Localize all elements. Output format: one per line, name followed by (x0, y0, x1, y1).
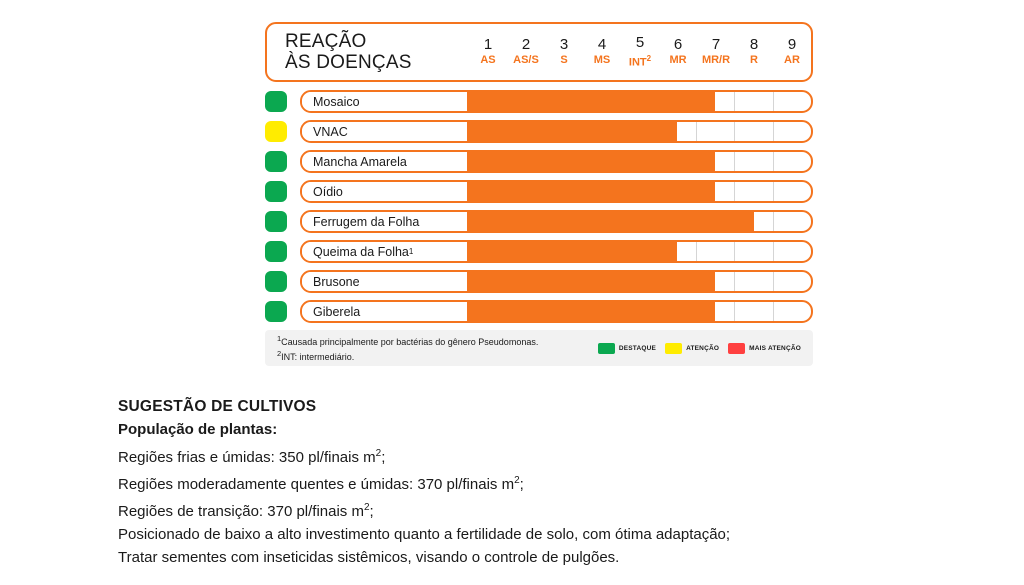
scale-column-abbr: S (560, 53, 567, 68)
scale-column-8: 8R (735, 24, 773, 80)
disease-row: Ferrugem da Folha (265, 210, 813, 233)
cultivation-line: Posicionado de baixo a alto investimento… (118, 523, 938, 546)
legend-label: MAIS ATENÇÃO (749, 345, 801, 352)
legend-swatch (665, 343, 682, 354)
status-badge (265, 271, 287, 292)
disease-name-text: Brusone (313, 275, 360, 289)
scale-column-abbr: MR (669, 53, 686, 68)
scale-column-5: 5INT2 (621, 24, 659, 80)
gridline-cell (734, 152, 772, 171)
cultivation-line-tail: ; (370, 503, 374, 520)
legend-swatch (598, 343, 615, 354)
gridline-cell (734, 302, 772, 321)
disease-bar-fill (467, 242, 677, 261)
gridline-cell (773, 212, 811, 231)
disease-name-label: Mosaico (302, 92, 467, 111)
scale-column-abbr: R (750, 53, 758, 68)
gridline-cell (773, 152, 811, 171)
legend-item: DESTAQUE (598, 343, 656, 354)
legend-label: DESTAQUE (619, 345, 656, 352)
card-title-line2: ÀS DOENÇAS (285, 52, 469, 73)
disease-bar-fill (467, 182, 715, 201)
scale-column-number: 7 (712, 36, 720, 53)
cultivation-line: Regiões frias e úmidas: 350 pl/finais m2… (118, 442, 938, 469)
disease-row: VNAC (265, 120, 813, 143)
footnotes: 1Causada principalmente por bactérias do… (277, 333, 598, 363)
cultivation-line: Regiões de transição: 370 pl/finais m2; (118, 496, 938, 523)
disease-bar-track: VNAC (300, 120, 813, 143)
gridline-cell (734, 92, 772, 111)
card-title-line1: REAÇÃO (285, 31, 469, 52)
legend: DESTAQUEATENÇÃOMAIS ATENÇÃO (598, 343, 801, 354)
scale-column-number: 3 (560, 36, 568, 53)
cultivation-line-text: Posicionado de baixo a alto investimento… (118, 526, 730, 543)
legend-swatch (728, 343, 745, 354)
disease-name-label: Brusone (302, 272, 467, 291)
disease-bar-fill (467, 122, 677, 141)
scale-column-abbr: AS (480, 53, 495, 68)
scale-column-number: 5 (636, 34, 644, 51)
cultivation-suggestions: SUGESTÃO DE CULTIVOS População de planta… (118, 398, 938, 569)
footnote-line: 1Causada principalmente por bactérias do… (277, 333, 598, 348)
scale-column-abbr: AS/S (513, 53, 539, 68)
gridline-cell (773, 302, 811, 321)
disease-reaction-card: REAÇÃO ÀS DOENÇAS 1AS2AS/S3S4MS5INT26MR7… (265, 22, 813, 366)
cultivation-line-tail: ; (381, 449, 385, 466)
gridline-cell (773, 182, 811, 201)
cultivation-heading: SUGESTÃO DE CULTIVOS (118, 398, 938, 416)
disease-name-label: Queima da Folha1 (302, 242, 467, 261)
cultivation-line: Regiões moderadamente quentes e úmidas: … (118, 469, 938, 496)
status-badge (265, 241, 287, 262)
gridline-cell (734, 242, 772, 261)
gridline-cell (696, 242, 734, 261)
disease-bar-track: Brusone (300, 270, 813, 293)
disease-bar-track: Mosaico (300, 90, 813, 113)
disease-name-text: Oídio (313, 185, 343, 199)
cultivation-line-text: Regiões de transição: 370 pl/finais m (118, 503, 364, 520)
disease-name-text: Giberela (313, 305, 360, 319)
gridline-cell (696, 122, 734, 141)
gridline-cell (773, 92, 811, 111)
scale-column-9: 9AR (773, 24, 811, 80)
gridline-cell (734, 122, 772, 141)
scale-column-abbr: AR (784, 53, 800, 68)
disease-row: Mosaico (265, 90, 813, 113)
footnote-marker: 1 (409, 247, 413, 256)
cultivation-line-text: Tratar sementes com inseticidas sistêmic… (118, 549, 619, 566)
legend-label: ATENÇÃO (686, 345, 719, 352)
card-footer: 1Causada principalmente por bactérias do… (265, 330, 813, 366)
scale-column-abbr: MR/R (702, 53, 730, 68)
scale-column-6: 6MR (659, 24, 697, 80)
scale-header-columns: 1AS2AS/S3S4MS5INT26MR7MR/R8R9AR (469, 24, 811, 80)
status-badge (265, 121, 287, 142)
disease-name-label: Mancha Amarela (302, 152, 467, 171)
footnote-text: Causada principalmente por bactérias do … (281, 337, 538, 347)
scale-column-abbr: INT2 (629, 51, 651, 71)
disease-row: Oídio (265, 180, 813, 203)
scale-column-2: 2AS/S (507, 24, 545, 80)
status-badge (265, 181, 287, 202)
disease-bar-track: Queima da Folha1 (300, 240, 813, 263)
disease-name-text: Mosaico (313, 95, 360, 109)
disease-row: Queima da Folha1 (265, 240, 813, 263)
status-badge (265, 301, 287, 322)
scale-column-number: 9 (788, 36, 796, 53)
gridline-cell (773, 122, 811, 141)
cultivation-subheading: População de plantas: (118, 421, 938, 438)
disease-bar-track: Oídio (300, 180, 813, 203)
disease-name-text: Queima da Folha (313, 245, 409, 259)
disease-name-label: Ferrugem da Folha (302, 212, 467, 231)
disease-row: Mancha Amarela (265, 150, 813, 173)
disease-bar-fill (467, 212, 754, 231)
scale-column-3: 3S (545, 24, 583, 80)
status-badge (265, 91, 287, 112)
cultivation-line: Tratar sementes com inseticidas sistêmic… (118, 546, 938, 569)
disease-name-label: Giberela (302, 302, 467, 321)
disease-bar-fill (467, 152, 715, 171)
footnote-text: INT: intermediário. (281, 352, 354, 362)
card-title: REAÇÃO ÀS DOENÇAS (267, 31, 469, 73)
scale-column-abbr: MS (594, 53, 611, 68)
scale-column-1: 1AS (469, 24, 507, 80)
cultivation-line-tail: ; (520, 476, 524, 493)
legend-item: MAIS ATENÇÃO (728, 343, 801, 354)
disease-name-label: VNAC (302, 122, 467, 141)
disease-bar-fill (467, 272, 715, 291)
disease-row: Giberela (265, 300, 813, 323)
disease-bar-track: Giberela (300, 300, 813, 323)
legend-item: ATENÇÃO (665, 343, 719, 354)
gridline-cell (773, 272, 811, 291)
scale-column-number: 4 (598, 36, 606, 53)
cultivation-line-text: Regiões moderadamente quentes e úmidas: … (118, 476, 514, 493)
gridline-cell (773, 242, 811, 261)
disease-name-label: Oídio (302, 182, 467, 201)
cultivation-line-list: Regiões frias e úmidas: 350 pl/finais m2… (118, 442, 938, 569)
status-badge (265, 151, 287, 172)
scale-column-number: 6 (674, 36, 682, 53)
scale-column-number: 2 (522, 36, 530, 53)
disease-row-list: MosaicoVNACMancha AmarelaOídioFerrugem d… (265, 90, 813, 323)
disease-bar-fill (467, 302, 715, 321)
gridline-cell (734, 182, 772, 201)
gridline-cell (734, 272, 772, 291)
footnote-line: 2INT: intermediário. (277, 348, 598, 363)
disease-bar-track: Ferrugem da Folha (300, 210, 813, 233)
disease-row: Brusone (265, 270, 813, 293)
scale-column-number: 1 (484, 36, 492, 53)
status-badge (265, 211, 287, 232)
scale-column-number: 8 (750, 36, 758, 53)
card-header: REAÇÃO ÀS DOENÇAS 1AS2AS/S3S4MS5INT26MR7… (265, 22, 813, 82)
disease-name-text: Mancha Amarela (313, 155, 407, 169)
scale-column-4: 4MS (583, 24, 621, 80)
disease-bar-fill (467, 92, 715, 111)
cultivation-line-text: Regiões frias e úmidas: 350 pl/finais m (118, 449, 376, 466)
disease-name-text: VNAC (313, 125, 348, 139)
disease-bar-track: Mancha Amarela (300, 150, 813, 173)
scale-column-7: 7MR/R (697, 24, 735, 80)
disease-name-text: Ferrugem da Folha (313, 215, 419, 229)
